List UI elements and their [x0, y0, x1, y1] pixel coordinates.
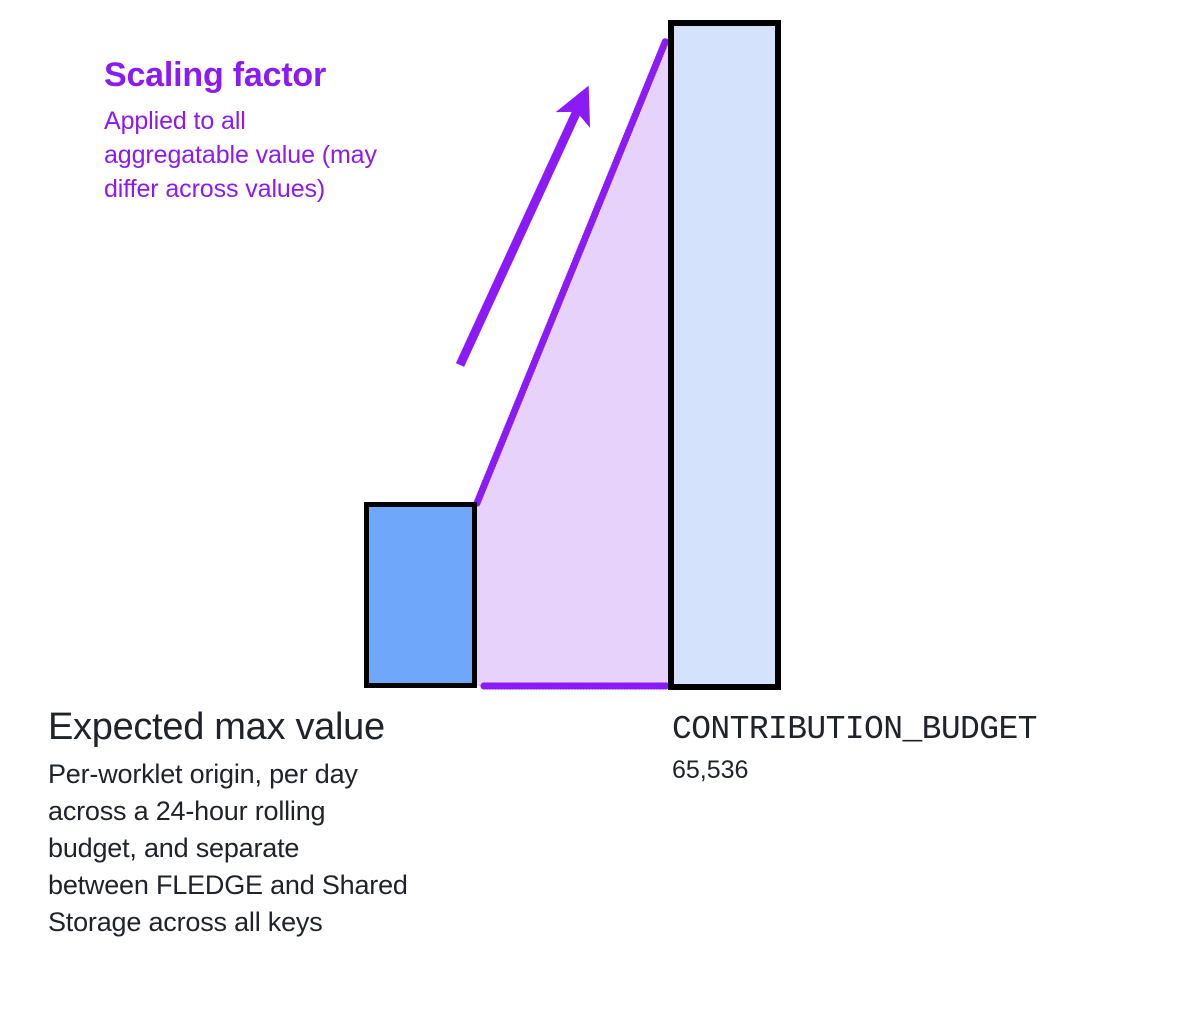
contribution-budget-label: CONTRIBUTION_BUDGET 65,536 — [672, 710, 1192, 786]
scaling-diagonal-dotted-line — [477, 40, 666, 503]
scaling-factor-title: Scaling factor — [104, 54, 434, 96]
scaling-region-fill — [477, 38, 668, 686]
scaling-factor-arrow-icon — [460, 111, 577, 365]
expected-max-value-bar — [367, 505, 475, 686]
expected-max-value-label: Expected max value Per-worklet origin, p… — [48, 704, 498, 941]
contribution-budget-value: 65,536 — [672, 754, 1192, 786]
scaling-factor-description: Applied to all aggregatable value (may d… — [104, 104, 434, 206]
scaling-factor-annotation: Scaling factor Applied to all aggregatab… — [104, 54, 434, 206]
expected-max-value-description: Per-worklet origin, per day across a 24-… — [48, 756, 498, 941]
contribution-budget-title: CONTRIBUTION_BUDGET — [672, 710, 1192, 750]
expected-max-value-title: Expected max value — [48, 704, 498, 750]
diagram-canvas: Scaling factor Applied to all aggregatab… — [0, 0, 1200, 1022]
contribution-budget-bar — [671, 23, 778, 687]
